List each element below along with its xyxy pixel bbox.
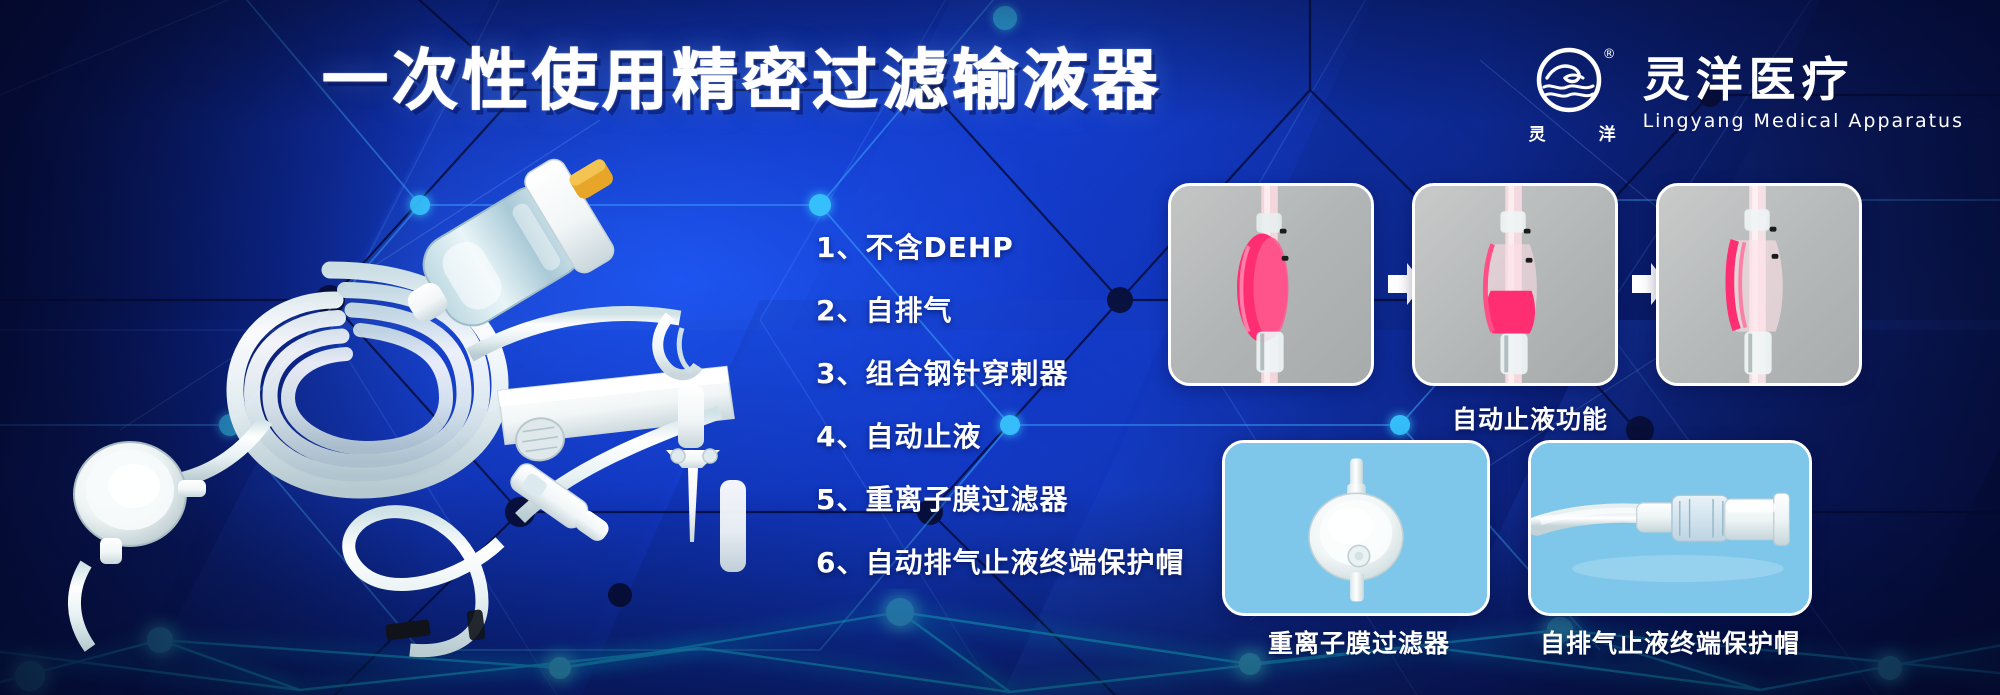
registered-trademark-icon: ®: [1603, 48, 1616, 61]
feature-item-4: 4、自动止液: [816, 415, 1184, 455]
logo-emblem-caption-left: 灵: [1529, 120, 1547, 145]
drip-chamber-photo-2: [1415, 186, 1615, 383]
membrane-filter-photo: [1225, 443, 1487, 613]
y-connector-part: [507, 460, 614, 548]
showcase-panel-1[interactable]: [1168, 183, 1374, 386]
page-title: 一次性使用精密过滤输液器: [322, 48, 1162, 114]
needle-hub-part: [658, 316, 746, 572]
drip-chamber-photo-3: [1659, 186, 1859, 383]
caption-auto-stop-function: 自动止液功能: [1452, 400, 1608, 436]
feature-item-3: 3、组合钢针穿刺器: [816, 352, 1184, 392]
logo-emblem-wrap: ®: [1531, 44, 1615, 118]
brand-name-cn: 灵洋医疗: [1643, 57, 1964, 105]
feature-item-1: 1、不含DEHP: [816, 226, 1184, 266]
feature-item-5: 5、重离子膜过滤器: [816, 478, 1184, 518]
caption-protective-cap: 自排气止液终端保护帽: [1540, 624, 1800, 660]
feature-item-6: 6、自动排气止液终端保护帽: [816, 541, 1184, 581]
banner-root: 一次性使用精密过滤输液器 ® 灵 洋 灵洋医疗 Lingyang Medical: [0, 0, 2000, 695]
drip-chamber-photo-1: [1171, 186, 1371, 383]
brand-wordmark: 灵洋医疗 Lingyang Medical Apparatus: [1643, 57, 1964, 133]
logo-emblem-caption-right: 洋: [1599, 120, 1617, 145]
caption-membrane-filter: 重离子膜过滤器: [1268, 624, 1450, 660]
showcase-panel-filter[interactable]: [1222, 440, 1490, 616]
showcase-panel-2[interactable]: [1412, 183, 1618, 386]
brand-logo: ® 灵 洋 灵洋医疗 Lingyang Medical Apparatus: [1525, 44, 1964, 145]
showcase-panel-3[interactable]: [1656, 183, 1862, 386]
feature-list: 1、不含DEHP 2、自排气 3、组合钢针穿刺器 4、自动止液 5、重离子膜过滤…: [816, 226, 1184, 581]
brand-name-en: Lingyang Medical Apparatus: [1643, 110, 1964, 132]
protective-cap-photo: [1531, 443, 1809, 613]
logo-emblem-group: ® 灵 洋: [1525, 44, 1621, 145]
showcase-panel-cap[interactable]: [1528, 440, 1812, 616]
product-hero-image: [30, 150, 820, 670]
feature-item-2: 2、自排气: [816, 289, 1184, 329]
logo-emblem-caption: 灵 洋: [1525, 120, 1621, 145]
